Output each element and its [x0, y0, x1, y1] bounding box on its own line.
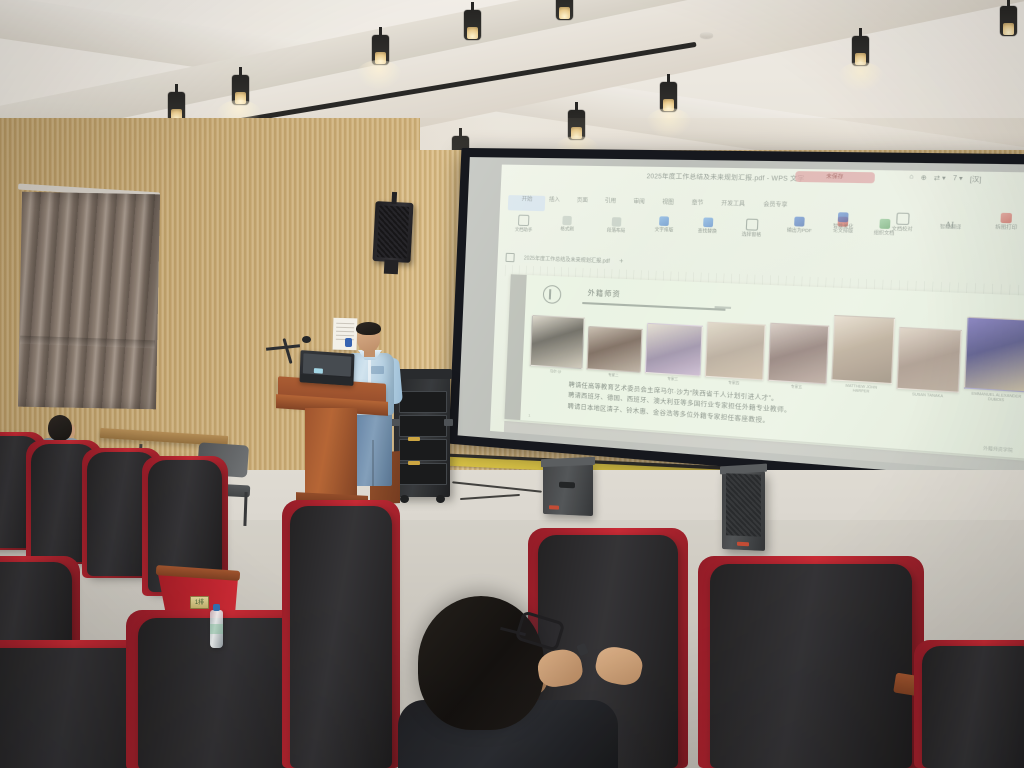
help-icon[interactable]: ⊕ — [920, 174, 926, 182]
podium-body — [305, 408, 357, 503]
presenter-leg-split — [372, 440, 374, 486]
photo-item: 专家五 — [768, 323, 828, 391]
ribbon-label: 段落布局 — [607, 227, 626, 234]
ribbon-button-format-brush[interactable]: 格式刷 — [560, 216, 574, 233]
seat-row-plate: 1排 — [190, 596, 209, 609]
ribbon-label: 查找替换 — [698, 228, 717, 235]
ribbon-label: 文字排版 — [654, 226, 673, 233]
ribbon-label: 格式刷 — [560, 226, 574, 233]
document-tab[interactable]: 2025年度工作总结及未来规划汇报.pdf — [520, 253, 615, 266]
ribbon-button-ai-translate[interactable]: AI 智能翻译 — [940, 213, 962, 231]
tab-page[interactable]: 页面 — [577, 196, 588, 205]
ribbon-label: 拆图打印 — [995, 224, 1017, 231]
wireless-mic — [345, 338, 352, 347]
photo-item: 马尔·沙 — [530, 315, 583, 375]
ime-icon[interactable]: [汉] — [970, 173, 982, 183]
tab-section[interactable]: 章节 — [691, 198, 703, 207]
presenter-shirt-print — [371, 366, 384, 374]
photo-caption: MATTHEW JOHN HARPER — [845, 384, 877, 395]
ribbon-label: 文档校对 — [891, 226, 912, 233]
ai-translate-icon: AI — [945, 213, 956, 223]
photo-caption: EMMANUEL ALEXANDER DUBOIS — [971, 392, 1021, 405]
paragraph-layout-icon — [612, 217, 622, 227]
export-pdf-icon — [794, 217, 805, 227]
ribbon-button-proofread[interactable]: 文档校对 — [891, 212, 913, 233]
photo-caption: 专家五 — [791, 385, 803, 390]
track-light — [1000, 6, 1017, 36]
format-brush-icon — [563, 216, 573, 225]
new-tab-button[interactable]: + — [619, 257, 624, 264]
projection-screen: 2025年度工作总结及未来规划汇报.pdf - WPS 文字 未保存 ⌂ ⊕ ⇄… — [449, 148, 1024, 497]
ribbon-button-doc-assistant[interactable]: 文档助手 — [515, 214, 533, 233]
subwoofer-speaker — [543, 462, 593, 516]
institution-logo-icon — [543, 285, 562, 304]
photo-item: 专家二 — [587, 327, 642, 380]
track-light — [556, 0, 573, 20]
count-icon[interactable]: 7 ▾ — [953, 174, 963, 182]
screen-surface: 2025年度工作总结及未来规划汇报.pdf - WPS 文字 未保存 ⌂ ⊕ ⇄… — [458, 157, 1024, 486]
slide-page-number: 1 — [528, 413, 530, 418]
slide-footer: 外籍师资学院 — [983, 445, 1013, 454]
tab-member[interactable]: 会员专享 — [763, 200, 788, 209]
file-menu-icon[interactable] — [506, 252, 515, 261]
tab-view[interactable]: 视图 — [662, 197, 674, 206]
smoke-detector-icon — [700, 32, 713, 38]
pa-speaker — [722, 469, 765, 551]
seat-row-label: 1排 — [195, 600, 204, 606]
photo-item: 专家三 — [646, 323, 702, 383]
photo-caption: 专家四 — [728, 381, 739, 386]
light-glow — [356, 60, 402, 90]
page-left-margin — [504, 274, 527, 419]
ribbon-button-paragraph-layout[interactable]: 段落布局 — [607, 217, 626, 234]
ribbon-label: 输出为PDF — [787, 227, 812, 234]
slide-title: 外籍师资 — [587, 288, 621, 300]
proofread-icon — [896, 212, 910, 225]
lecture-hall-photo: 2025年度工作总结及未来规划汇报.pdf - WPS 文字 未保存 ⌂ ⊕ ⇄… — [0, 0, 1024, 768]
track-light — [464, 10, 481, 40]
window-curtain — [18, 192, 160, 410]
smart-beautify-icon — [838, 212, 849, 222]
ribbon-button-split-print[interactable]: 拆图打印 — [995, 212, 1018, 231]
organize-doc-icon — [879, 219, 890, 229]
select-pane-icon — [745, 218, 758, 230]
title-underline — [582, 302, 725, 311]
ribbon-button-text-layout[interactable]: 文字排版 — [654, 216, 674, 233]
ribbon-label: 文档助手 — [515, 227, 533, 234]
doc-assistant-icon — [518, 214, 529, 225]
tab-reference[interactable]: 引用 — [605, 196, 617, 205]
presenter-hair — [356, 322, 381, 335]
ribbon-button-smart-beautify[interactable]: 智能美化 — [833, 212, 854, 230]
seated-student-head — [48, 415, 72, 441]
save-status-label: 未保存 — [796, 171, 875, 184]
presenter-laptop[interactable] — [299, 350, 354, 386]
photo-caption: 马尔·沙 — [550, 370, 562, 375]
ribbon-label: 智能翻译 — [940, 224, 962, 231]
save-status-pill[interactable]: 未保存 — [796, 171, 875, 183]
quick-access-toolbar[interactable]: ⌂ ⊕ ⇄ ▾ 7 ▾ [汉] — [909, 172, 982, 183]
wall-mounted-speaker — [372, 201, 413, 263]
wps-office-window[interactable]: 2025年度工作总结及未来规划汇报.pdf - WPS 文字 未保存 ⌂ ⊕ ⇄… — [490, 165, 1024, 478]
tab-review[interactable]: 审阅 — [633, 197, 645, 206]
find-replace-icon — [703, 217, 713, 227]
sync-icon[interactable]: ⇄ ▾ — [934, 174, 946, 182]
water-bottle — [210, 610, 223, 648]
ribbon-button-find-replace[interactable]: 查找替换 — [698, 217, 718, 235]
photo-item: MATTHEW JOHN HARPER — [832, 315, 894, 396]
microphone-head — [302, 336, 311, 343]
photo-item: EMMANUEL ALEXANDER DUBOIS — [965, 317, 1024, 405]
home-icon[interactable]: ⌂ — [909, 174, 914, 181]
photo-item: 专家四 — [706, 322, 764, 387]
ribbon-button-export-pdf[interactable]: 输出为PDF — [787, 217, 813, 235]
ribbon-button-select-pane[interactable]: 选择窗格 — [742, 218, 762, 238]
wps-document-title: 2025年度工作总结及未来规划汇报.pdf - WPS 文字 — [646, 171, 805, 183]
photo-caption: 专家三 — [667, 377, 678, 382]
tab-insert[interactable]: 插入 — [549, 195, 560, 203]
tab-start[interactable]: 开始 — [521, 194, 532, 202]
text-layout-icon — [659, 216, 669, 226]
photo-item: SUSAN TANAKA — [897, 327, 961, 400]
photo-caption: 专家二 — [608, 373, 619, 378]
ribbon-label: 选择窗格 — [742, 231, 762, 238]
split-print-icon — [1001, 213, 1013, 223]
ribbon-label: 智能美化 — [833, 223, 854, 230]
photo-caption: SUSAN TANAKA — [912, 393, 943, 400]
equipment-rack — [394, 375, 450, 497]
tab-developer[interactable]: 开发工具 — [721, 199, 745, 208]
light-glow — [838, 62, 884, 92]
